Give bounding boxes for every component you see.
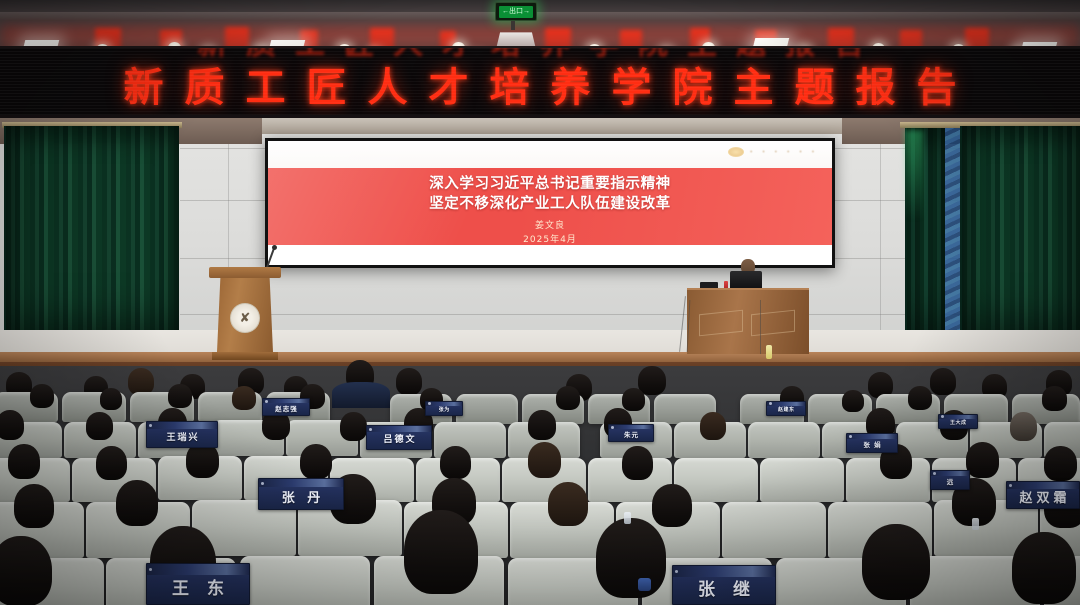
name-placard: 张 娟 (846, 433, 898, 453)
exit-sign-label: ←出口→ (499, 6, 533, 18)
projection-screen-frame: • • • • • • 深入学习习近平总书记重要指示精神 坚定不移深化产业工人队… (265, 138, 835, 268)
name-placard: 王瑞兴 (146, 421, 218, 448)
name-placard: 张 丹 (258, 478, 344, 510)
slide-logo-text: • • • • • • (749, 148, 818, 156)
name-placard: 朱元 (608, 424, 654, 442)
floor-bottle (766, 345, 772, 359)
slide-presenter: 姜文良 (268, 220, 832, 234)
placard-name-text: 赵志强 (263, 403, 309, 415)
slide-logo: • • • • • • (728, 147, 818, 157)
placard-name-text: 吕德文 (367, 432, 431, 449)
laptop-screen (730, 271, 762, 289)
auditorium-scene: ←出口→ 新质工匠人才培养学院主题报告 新质工匠人才培养学院主题报告 (0, 0, 1080, 605)
placard-logo-icon (933, 472, 936, 475)
placard-header-strip (259, 479, 343, 487)
podium-base (212, 352, 278, 360)
slide-title-line-2: 坚定不移深化产业工人队伍建设改革 (268, 194, 832, 214)
slide-title-band: 深入学习习近平总书记重要指示精神 坚定不移深化产业工人队伍建设改革 姜文良 20… (268, 168, 832, 251)
placard-logo-icon (611, 426, 614, 429)
podium: ✘ (214, 267, 276, 359)
placard-logo-icon (261, 482, 264, 485)
placard-name-text: 赵建东 (767, 406, 805, 415)
placard-name-text: 张 继 (673, 577, 775, 604)
slide-title-line-1: 深入学习习近平总书记重要指示精神 (268, 174, 832, 194)
placard-logo-icon (849, 435, 852, 438)
stage-table (687, 288, 809, 354)
podium-emblem-icon: ✘ (230, 303, 260, 333)
placard-logo-icon (675, 570, 678, 573)
stage-curtain-blue-strip (945, 128, 961, 348)
placard-logo-icon (149, 568, 152, 571)
exit-sign-pole (511, 21, 515, 30)
name-placard: 远 (930, 470, 970, 490)
projection-screen: • • • • • • 深入学习习近平总书记重要指示精神 坚定不移深化产业工人队… (268, 141, 832, 265)
placard-name-text: 朱元 (609, 429, 653, 441)
podium-top (209, 267, 281, 278)
placard-header-strip (1007, 482, 1079, 489)
blue-cup (638, 578, 651, 591)
ceiling-soffit-center (262, 118, 842, 134)
name-placard: 王 东 (146, 563, 250, 605)
microphone-head-icon (272, 245, 277, 250)
slide-title: 深入学习习近平总书记重要指示精神 坚定不移深化产业工人队伍建设改革 (268, 174, 832, 214)
curtain-highlight (905, 130, 923, 220)
name-placard: 张 继 (672, 565, 776, 605)
placard-name-text: 王瑞兴 (147, 429, 217, 447)
name-placard: 吕德文 (366, 425, 432, 450)
led-banner: 新质工匠人才培养学院主题报告 新质工匠人才培养学院主题报告 (0, 46, 1080, 118)
exit-sign: ←出口→ (495, 2, 537, 21)
name-placard: 赵双霜 (1006, 481, 1080, 509)
stage-curtain-right (960, 126, 1080, 350)
placard-logo-icon (369, 428, 372, 431)
placard-name-text: 赵双霜 (1007, 489, 1079, 508)
slide-subtitle: 姜文良 2025年4月 (268, 220, 832, 248)
name-placard: 王大成 (938, 414, 978, 429)
placard-logo-icon (149, 424, 152, 427)
placard-logo-icon (1009, 484, 1012, 487)
placard-name-text: 王 东 (147, 575, 249, 604)
stage-curtain-left (4, 126, 179, 350)
placard-header-strip (147, 422, 217, 429)
table-panel-left (699, 310, 743, 337)
placard-name-text: 张为 (426, 406, 462, 415)
slide-logo-mark-icon (728, 147, 744, 157)
placard-logo-icon (265, 400, 268, 403)
name-placard: 张为 (425, 401, 463, 416)
placard-name-text: 王大成 (939, 419, 977, 428)
table-panel-right (751, 310, 795, 337)
placard-header-strip (673, 566, 775, 577)
placard-name-text: 张 丹 (259, 487, 343, 509)
led-banner-text: 新质工匠人才培养学院主题报告 (0, 56, 1080, 112)
placard-header-strip (147, 564, 249, 575)
name-placard: 赵志强 (262, 398, 310, 416)
slide-header: • • • • • • (268, 141, 832, 168)
name-placard: 赵建东 (766, 401, 806, 416)
placard-name-text: 张 娟 (847, 439, 897, 452)
placard-name-text: 远 (931, 476, 969, 489)
